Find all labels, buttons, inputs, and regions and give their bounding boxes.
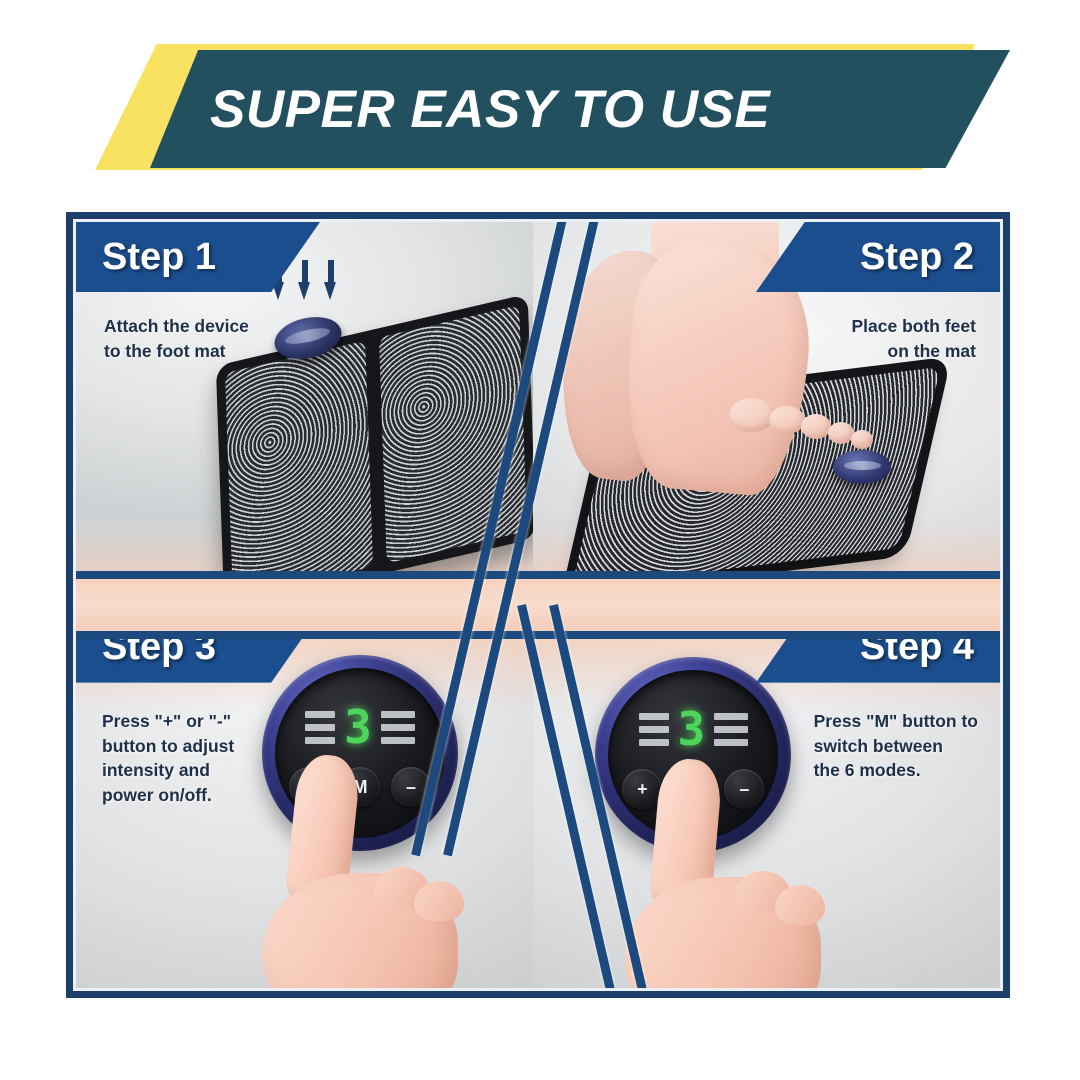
page-title: SUPER EASY TO USE [210, 79, 770, 140]
step-2-badge-label: Step 2 [860, 236, 974, 279]
lcd-label [714, 726, 748, 733]
lcd-labels-left [305, 711, 335, 744]
step-1-caption: Attach the device to the foot mat [104, 314, 249, 364]
step-3-caption: Press "+" or "-" button to adjust intens… [102, 709, 234, 808]
step-2-caption: Place both feet on the mat [852, 314, 976, 364]
step-panel-1: Step 1 Attach the device to the foot mat [76, 222, 543, 597]
mat-pad-left [225, 341, 373, 598]
mat-pad-right [379, 305, 527, 563]
lcd-label [381, 711, 415, 718]
header-banner: SUPER EASY TO USE [0, 0, 1080, 190]
minus-button[interactable]: – [391, 767, 431, 807]
lcd-label [305, 724, 335, 731]
ems-device-puck [833, 450, 891, 484]
lcd-label [381, 737, 415, 744]
lcd-label [305, 711, 335, 718]
lcd-label [639, 713, 669, 720]
lcd-label [639, 739, 669, 746]
minus-button[interactable]: – [724, 769, 764, 809]
row-divider-line-top [76, 571, 1000, 579]
lcd-labels-right [381, 711, 415, 744]
plus-button[interactable]: + [622, 769, 662, 809]
lcd-display: 3 [297, 697, 423, 758]
step-panel-3: 3 + M – [76, 613, 543, 988]
row-divider-line-bottom [76, 631, 1000, 639]
step-1-badge-label: Step 1 [102, 236, 216, 279]
lcd-label [381, 724, 415, 731]
steps-grid: Step 1 Attach the device to the foot mat [66, 212, 1010, 998]
controller-device[interactable]: 3 + M – [262, 655, 458, 851]
arrow-down-icon [324, 260, 337, 300]
step-4-caption: Press "M" button to switch between the 6… [814, 709, 978, 784]
step-panel-2: Step 2 Place both feet on the mat [533, 222, 1000, 597]
lcd-labels-left [639, 713, 669, 746]
row-divider [76, 571, 1000, 640]
step-panel-4: 3 + M – [533, 613, 1000, 988]
lcd-digit: 3 [678, 706, 706, 752]
lcd-label [714, 739, 748, 746]
lcd-display: 3 [630, 699, 756, 760]
lcd-label [714, 713, 748, 720]
lcd-labels-right [714, 713, 748, 746]
steps-grid-inner: Step 1 Attach the device to the foot mat [73, 219, 1003, 991]
banner-teal-shape: SUPER EASY TO USE [150, 50, 1010, 168]
lcd-label [305, 737, 335, 744]
arrow-down-icon [298, 260, 311, 300]
infographic-page: SUPER EASY TO USE [0, 0, 1080, 1080]
lcd-label [639, 726, 669, 733]
lcd-digit: 3 [344, 704, 372, 750]
